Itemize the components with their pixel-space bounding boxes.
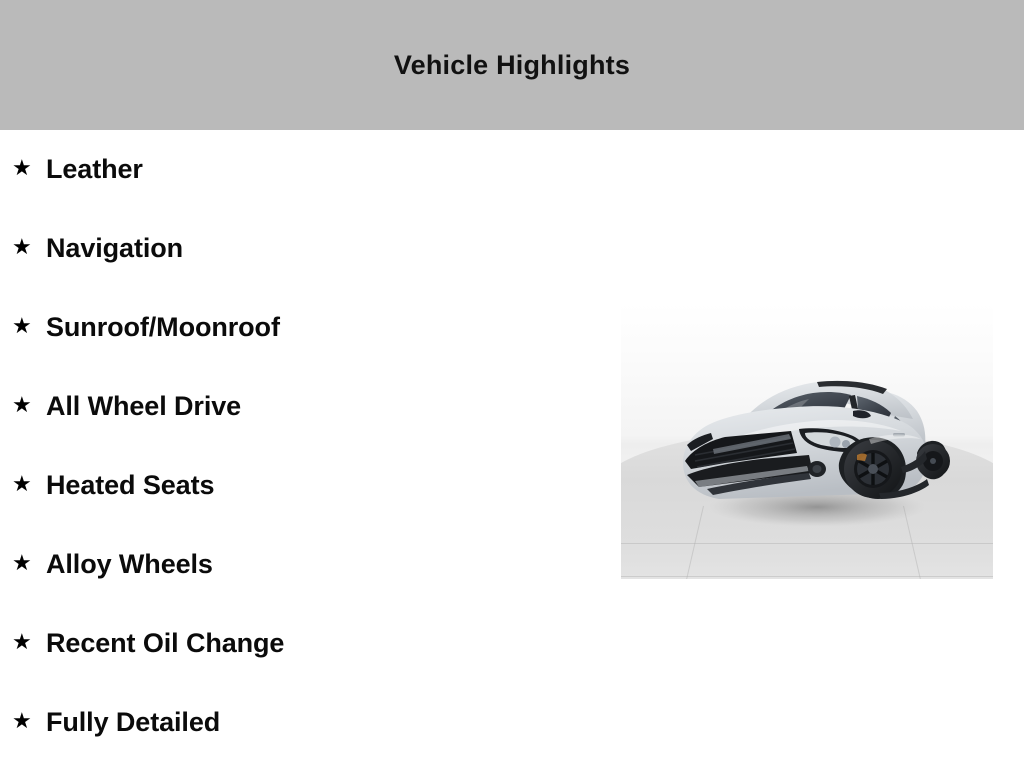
highlight-label: All Wheel Drive: [46, 393, 241, 420]
star-icon: ★: [12, 236, 34, 258]
list-item: ★ Heated Seats: [0, 446, 600, 525]
page-title: Vehicle Highlights: [394, 52, 630, 79]
list-item: ★ Fully Detailed: [0, 683, 600, 762]
vehicle-highlights-list: ★ Leather ★ Navigation ★ Sunroof/Moonroo…: [0, 130, 600, 762]
star-icon: ★: [12, 710, 34, 732]
list-item: ★ Alloy Wheels: [0, 525, 600, 604]
highlight-label: Navigation: [46, 235, 183, 262]
list-item: ★ Leather: [0, 130, 600, 209]
highlight-label: Leather: [46, 156, 143, 183]
highlight-label: Sunroof/Moonroof: [46, 314, 280, 341]
star-icon: ★: [12, 157, 34, 179]
list-item: ★ Navigation: [0, 209, 600, 288]
star-icon: ★: [12, 552, 34, 574]
highlight-label: Fully Detailed: [46, 709, 220, 736]
list-item: ★ Recent Oil Change: [0, 604, 600, 683]
highlight-label: Alloy Wheels: [46, 551, 213, 578]
highlight-label: Recent Oil Change: [46, 630, 284, 657]
star-icon: ★: [12, 315, 34, 337]
star-icon: ★: [12, 394, 34, 416]
header-banner: Vehicle Highlights: [0, 0, 1024, 130]
star-icon: ★: [12, 473, 34, 495]
list-item: ★ All Wheel Drive: [0, 367, 600, 446]
suv-illustration: [621, 303, 993, 579]
vehicle-photo: [621, 303, 993, 579]
star-icon: ★: [12, 631, 34, 653]
highlight-label: Heated Seats: [46, 472, 214, 499]
list-item: ★ Sunroof/Moonroof: [0, 288, 600, 367]
